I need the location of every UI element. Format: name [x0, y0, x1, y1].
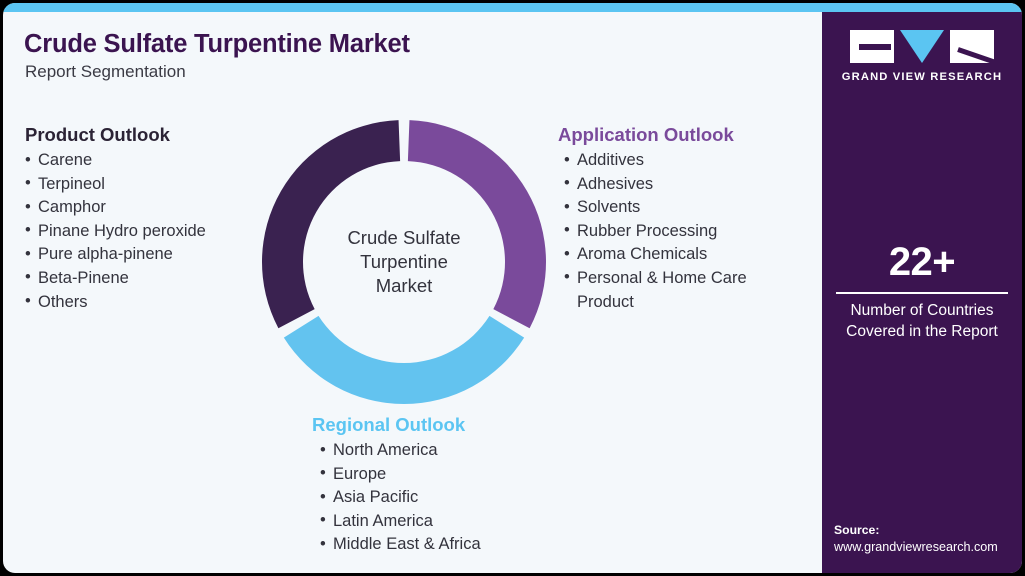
regional-outlook-block: Regional Outlook North America Europe As…	[312, 414, 481, 557]
list-item: Adhesives	[564, 173, 792, 197]
segmentation-donut-chart: Crude Sulfate Turpentine Market	[259, 117, 549, 407]
list-item: Pinane Hydro peroxide	[25, 220, 206, 244]
logo-letter-r-icon	[950, 30, 994, 63]
logo-letter-g-icon	[850, 30, 894, 63]
countries-stat-caption-line-2: Covered in the Report	[822, 322, 1022, 343]
list-item: Personal & Home Care Product	[564, 267, 792, 314]
list-item: Additives	[564, 149, 792, 173]
countries-stat-number: 22+	[822, 240, 1022, 284]
donut-segment	[284, 316, 524, 404]
list-item: Latin America	[320, 510, 481, 534]
logo-wordmark: GRAND VIEW RESEARCH	[842, 71, 1002, 83]
list-item: North America	[320, 439, 481, 463]
brand-side-panel: GRAND VIEW RESEARCH 22+ Number of Countr…	[822, 12, 1022, 573]
page-subtitle: Report Segmentation	[25, 62, 186, 82]
countries-stat-caption-line-1: Number of Countries	[822, 301, 1022, 322]
regional-outlook-heading: Regional Outlook	[312, 414, 481, 436]
application-outlook-list: Additives Adhesives Solvents Rubber Proc…	[564, 149, 792, 314]
top-accent-bar	[3, 3, 1022, 12]
product-outlook-heading: Product Outlook	[25, 124, 206, 146]
list-item: Carene	[25, 149, 206, 173]
page-title: Crude Sulfate Turpentine Market	[24, 30, 410, 59]
logo-letter-v-triangle-icon	[900, 30, 944, 63]
infographic-card: Crude Sulfate Turpentine Market Report S…	[3, 3, 1022, 573]
regional-outlook-list: North America Europe Asia Pacific Latin …	[320, 439, 481, 557]
list-item: Camphor	[25, 196, 206, 220]
product-outlook-block: Product Outlook Carene Terpineol Camphor…	[25, 124, 206, 314]
list-item: Solvents	[564, 196, 792, 220]
source-label: Source:	[834, 522, 1022, 539]
donut-svg	[259, 117, 549, 407]
infographic-root: Crude Sulfate Turpentine Market Report S…	[0, 0, 1025, 576]
list-item: Asia Pacific	[320, 486, 481, 510]
list-item: Aroma Chemicals	[564, 243, 792, 267]
list-item: Terpineol	[25, 173, 206, 197]
application-outlook-block: Application Outlook Additives Adhesives …	[558, 124, 792, 314]
application-outlook-heading: Application Outlook	[558, 124, 792, 146]
logo-marks	[850, 30, 994, 63]
list-item: Europe	[320, 463, 481, 487]
source-url[interactable]: www.grandviewresearch.com	[834, 539, 1022, 556]
donut-segment	[408, 120, 546, 328]
list-item: Rubber Processing	[564, 220, 792, 244]
stat-divider	[836, 292, 1008, 294]
list-item: Middle East & Africa	[320, 533, 481, 557]
donut-segment	[262, 120, 400, 328]
list-item: Others	[25, 291, 206, 315]
list-item: Pure alpha-pinene	[25, 243, 206, 267]
list-item: Beta-Pinene	[25, 267, 206, 291]
main-content-area: Crude Sulfate Turpentine Market Report S…	[3, 12, 822, 573]
source-block: Source: www.grandviewresearch.com	[834, 522, 1022, 556]
countries-stat-block: 22+ Number of Countries Covered in the R…	[822, 240, 1022, 342]
product-outlook-list: Carene Terpineol Camphor Pinane Hydro pe…	[25, 149, 206, 314]
grand-view-research-logo: GRAND VIEW RESEARCH	[822, 30, 1022, 83]
